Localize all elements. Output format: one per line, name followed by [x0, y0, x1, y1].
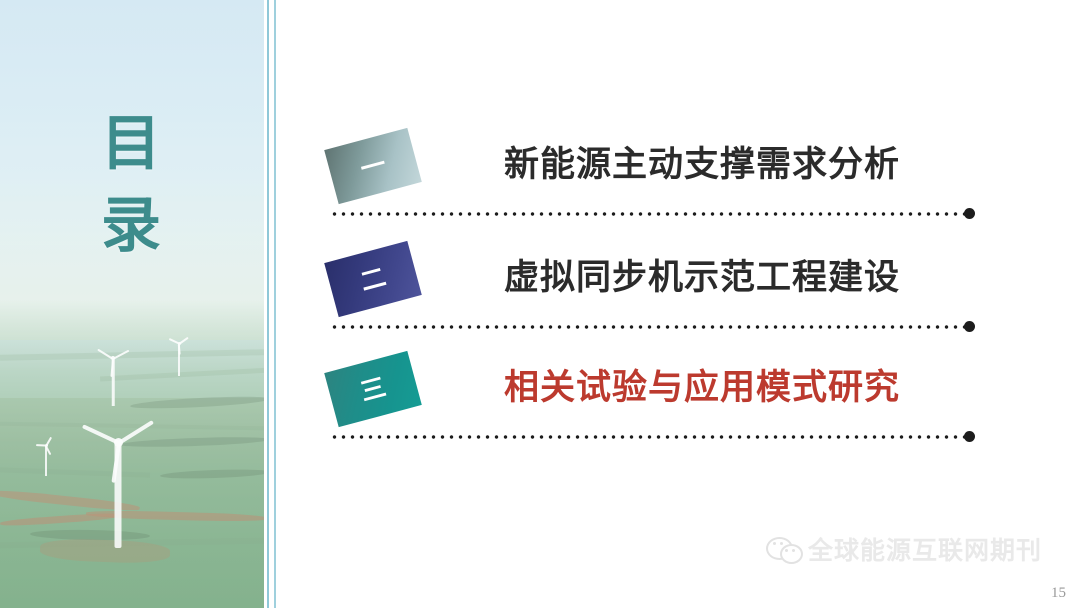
turbine-blade	[113, 349, 130, 359]
watermark-text: 全球能源互联网期刊	[808, 538, 1042, 563]
toc-leader-end-dot	[964, 431, 975, 442]
toc-index-glyph: 一	[358, 151, 389, 182]
toc-leader-end-dot	[964, 208, 975, 219]
wechat-eye	[780, 542, 783, 545]
turbine-blade	[118, 420, 154, 445]
turbine-blade	[36, 445, 46, 447]
turbine-blade	[97, 348, 113, 359]
wind-turbine	[36, 440, 56, 476]
toc-leader-line	[330, 435, 966, 439]
toc-index-badge-2: 二	[324, 241, 422, 317]
sidebar-heading: 目 录	[0, 104, 264, 267]
toc-item-2[interactable]: 二 虚拟同步机示范工程建设	[276, 245, 1080, 353]
toc-index-badge-3: 三	[324, 351, 422, 427]
wind-turbine	[95, 348, 131, 406]
wechat-icon	[766, 536, 800, 564]
wechat-eye	[785, 549, 788, 552]
sidebar-heading-char-1: 目	[0, 104, 264, 186]
wechat-eye	[773, 542, 776, 545]
sidebar-heading-char-2: 录	[0, 186, 264, 268]
toc-content: 一 新能源主动支撑需求分析 二 虚拟同步机示范工程建设 三 相关试验与应用模式研…	[276, 0, 1080, 608]
turbine-blade	[179, 337, 189, 345]
toc-index-glyph: 二	[358, 264, 389, 295]
wechat-bubble-small	[780, 544, 803, 564]
turbine-blade	[169, 338, 180, 344]
toc-item-3[interactable]: 三 相关试验与应用模式研究	[276, 355, 1080, 463]
page-number: 15	[1051, 585, 1066, 602]
toc-leader-end-dot	[964, 321, 975, 332]
toc-item-label-2: 虚拟同步机示范工程建设	[504, 257, 900, 301]
turbine-blade	[178, 344, 180, 355]
toc-item-1[interactable]: 一 新能源主动支撑需求分析	[276, 132, 1080, 240]
wind-turbine	[168, 338, 190, 376]
wind-turbine	[78, 408, 158, 548]
toc-leader-line	[330, 325, 966, 329]
turbine-blade	[82, 424, 120, 445]
toc-index-glyph: 三	[358, 374, 389, 405]
wechat-eye	[792, 549, 795, 552]
toc-leader-line	[330, 212, 966, 216]
slide: 目 录 一 新能源主动支撑需求分析 二 虚拟同步机示范工程建设	[0, 0, 1080, 608]
wechat-watermark: 全球能源互联网期刊	[766, 536, 1042, 564]
toc-item-label-3: 相关试验与应用模式研究	[504, 367, 900, 411]
wind-farm-photo-panel: 目 录	[0, 0, 264, 608]
toc-index-badge-1: 一	[324, 128, 422, 204]
toc-item-label-1: 新能源主动支撑需求分析	[504, 144, 900, 188]
